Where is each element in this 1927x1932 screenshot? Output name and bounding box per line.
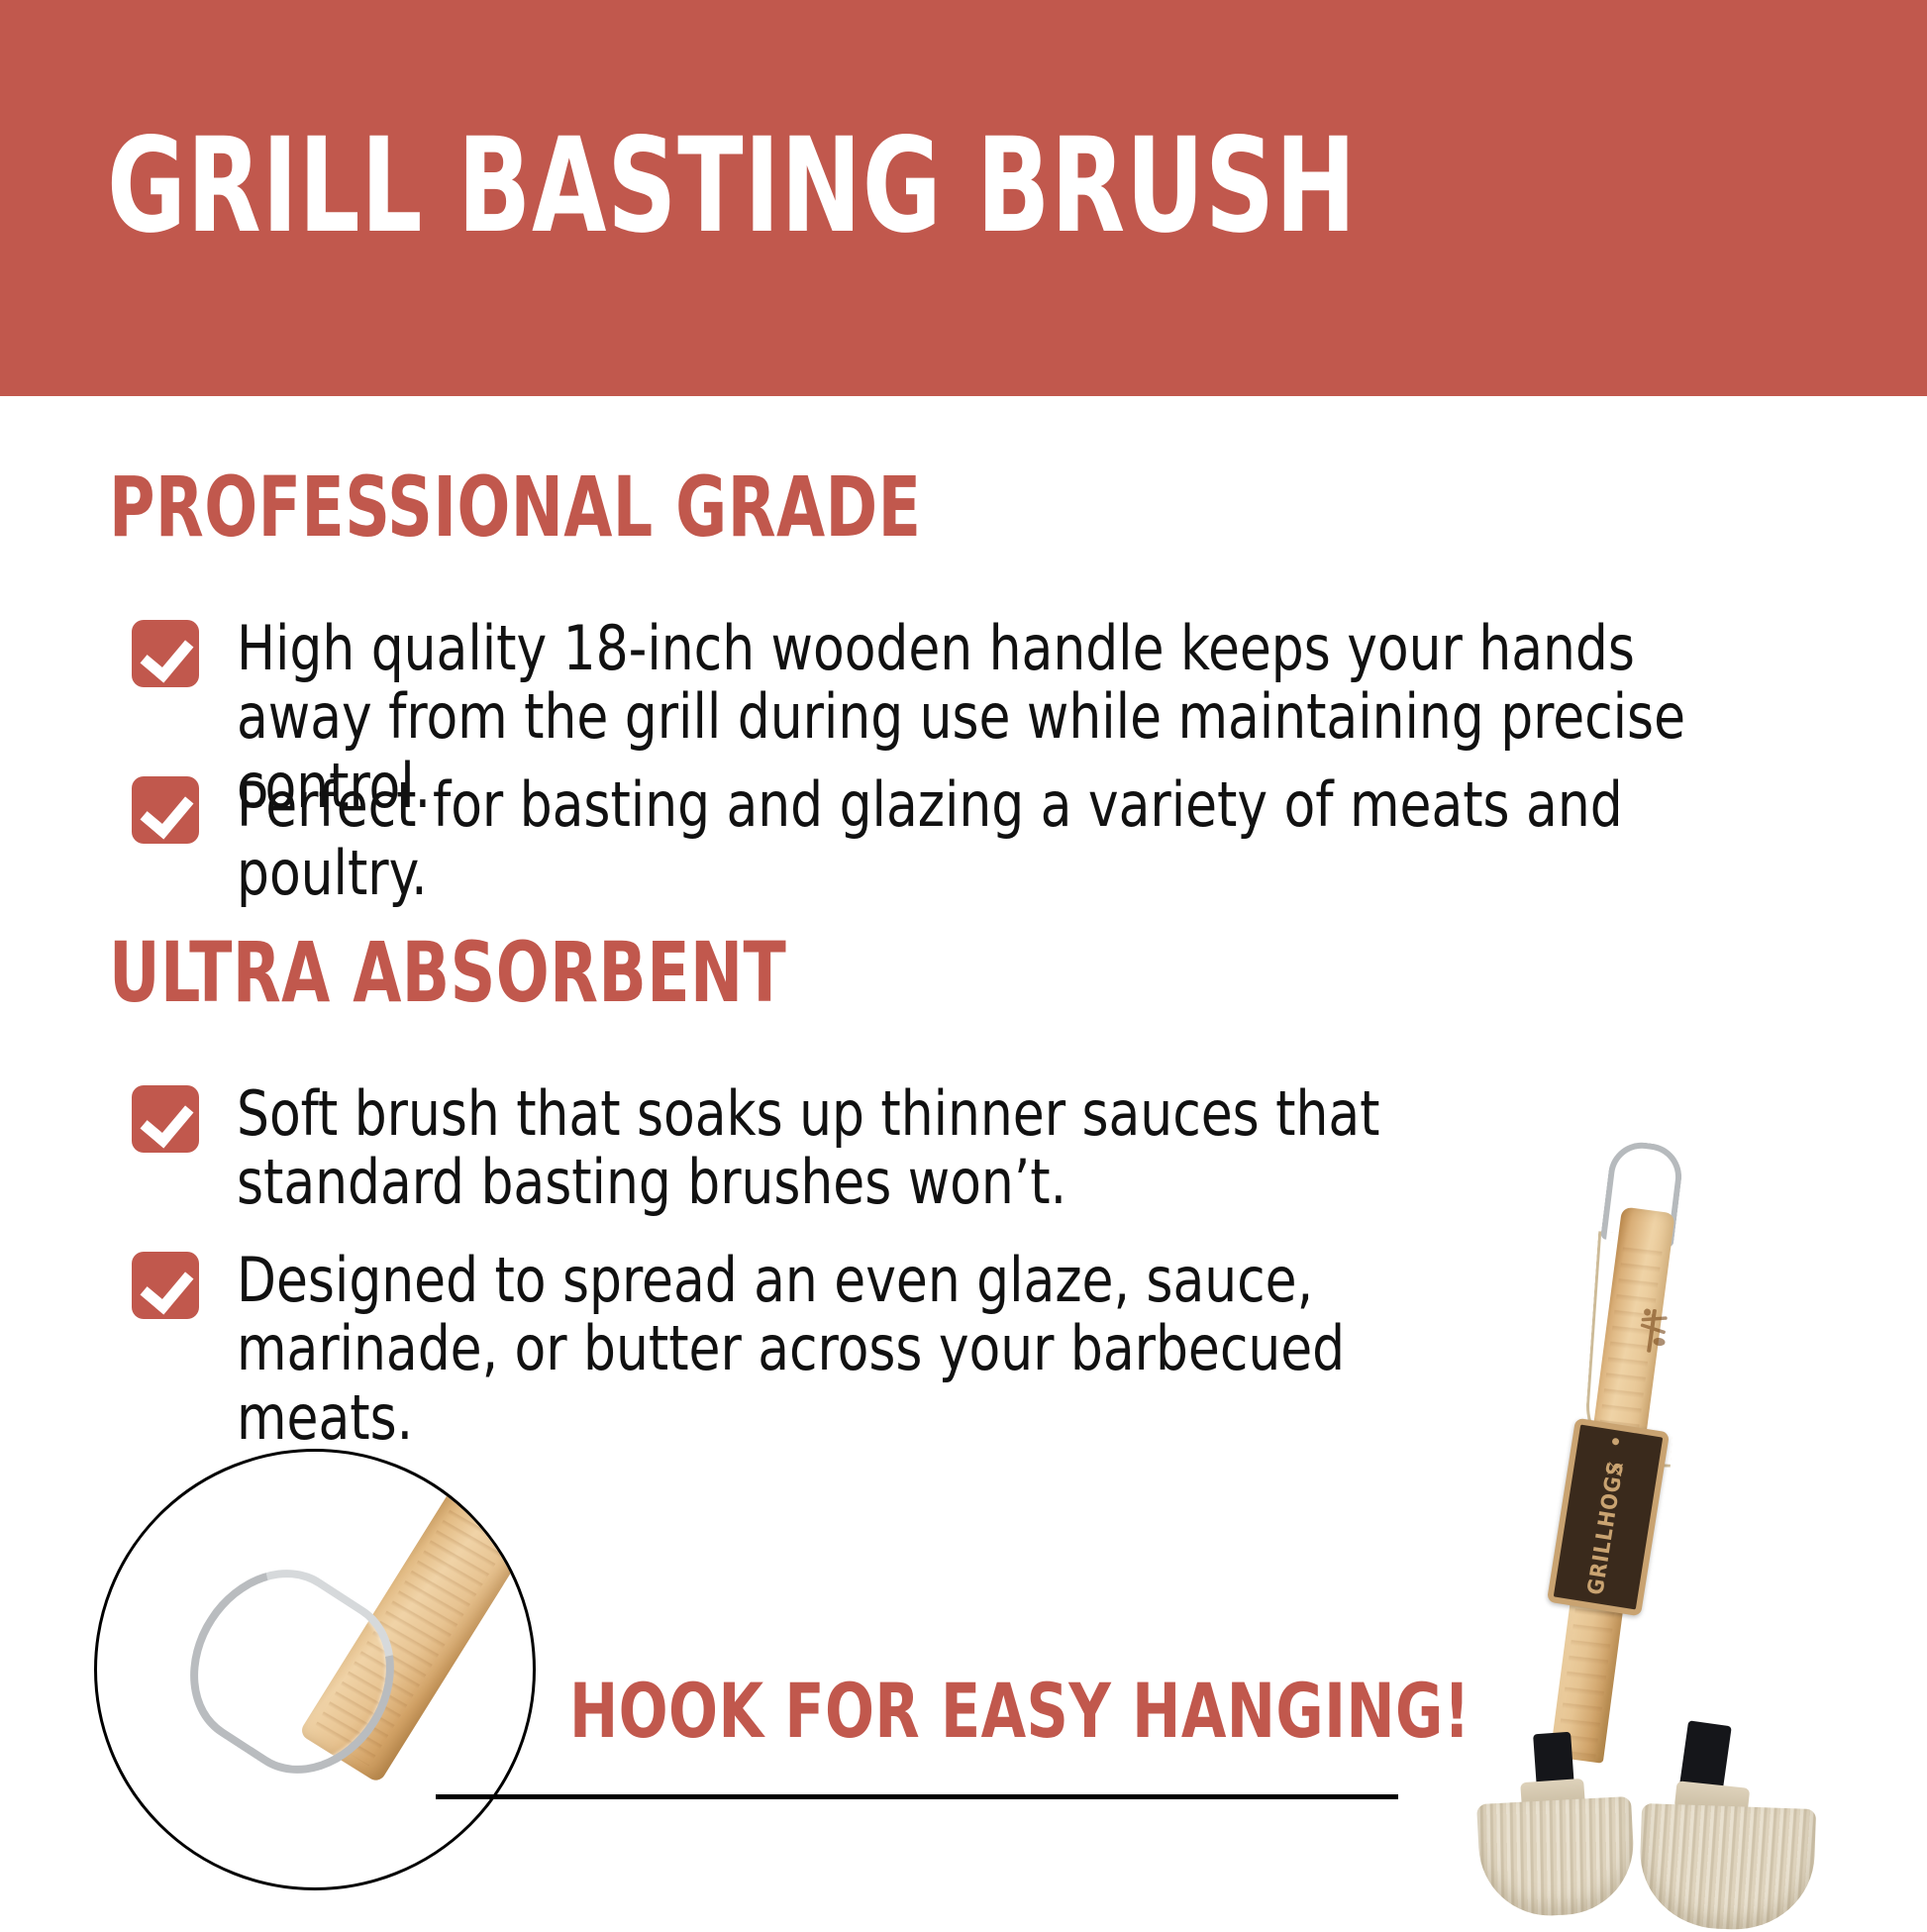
hook-detail-inset [94, 1449, 536, 1890]
feature-bullet-text: Soft brush that soaks up thinner sauces … [237, 1079, 1474, 1217]
check-icon [132, 1252, 199, 1319]
section-heading-professional-grade: PROFESSIONAL GRADE [109, 465, 921, 549]
product-image: ⚔ GRILLHOGS [1456, 1139, 1921, 1921]
feature-bullet-text: Perfect for basting and glazing a variet… [237, 770, 1704, 908]
tag-hole [1612, 1438, 1620, 1446]
mop-strands [1638, 1803, 1816, 1932]
hang-tag: ⚔ GRILLHOGS [1547, 1418, 1670, 1617]
check-icon [132, 620, 199, 687]
check-icon [132, 1085, 199, 1153]
feature-bullet: Soft brush that soaks up thinner sauces … [132, 1079, 1568, 1217]
check-icon [132, 776, 199, 844]
feature-bullet: Perfect for basting and glazing a variet… [132, 770, 1815, 908]
attached-mop-head [1630, 1723, 1838, 1931]
feature-bullet-text: Designed to spread an even glaze, sauce,… [237, 1246, 1520, 1452]
mop-strands [1476, 1796, 1637, 1919]
callout-divider [436, 1794, 1398, 1799]
section-heading-ultra-absorbent: ULTRA ABSORBENT [109, 931, 786, 1014]
feature-bullet: Designed to spread an even glaze, sauce,… [132, 1246, 1617, 1452]
header-band: GRILL BASTING BRUSH [0, 0, 1927, 396]
brand-name: GRILLHOGS [1583, 1459, 1629, 1596]
page-title: GRILL BASTING BRUSH [107, 121, 1357, 252]
hook-callout-label: HOOK FOR EASY HANGING! [569, 1674, 1471, 1749]
